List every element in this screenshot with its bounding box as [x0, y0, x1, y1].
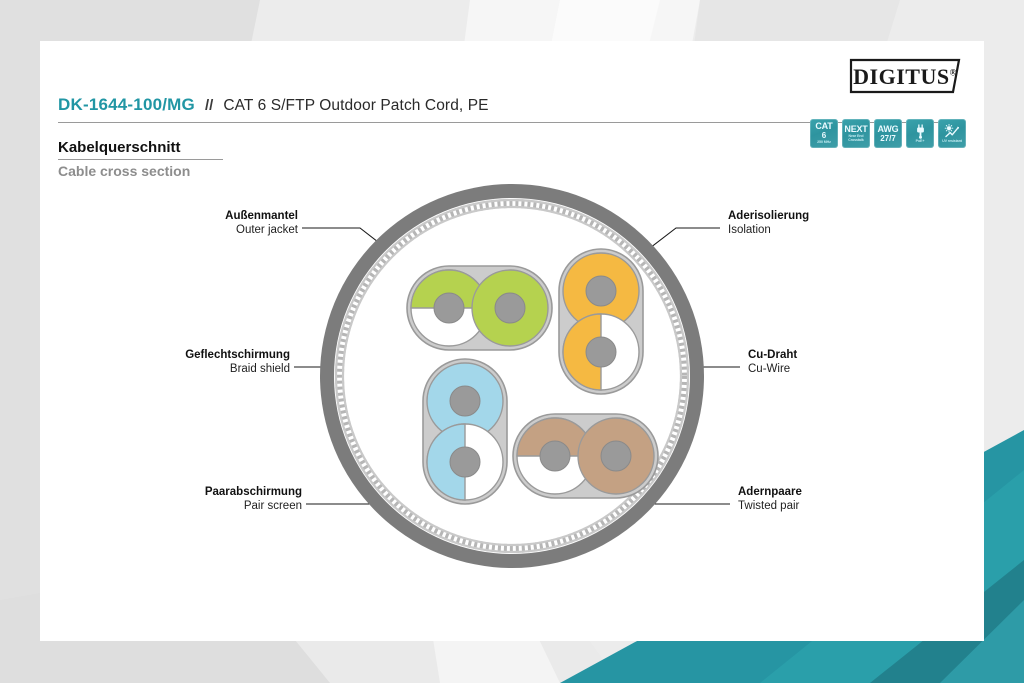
cable-cross-section-diagram: Außenmantel Outer jacket Geflechtschirmu…	[40, 171, 984, 611]
label-cu-wire-en: Cu-Wire	[748, 362, 978, 377]
label-pair-screen-de: Paarabschirmung	[60, 485, 302, 499]
screenshot-root: DIGITUS® DK-1644-100/MG // CAT 6 S/FTP O…	[0, 0, 1024, 683]
awg-badge-main: AWG	[878, 125, 899, 134]
next-badge-main: NEXT	[844, 125, 867, 134]
blue-wire-striped-conductor	[450, 447, 480, 477]
product-name: CAT 6 S/FTP Outdoor Patch Cord, PE	[223, 97, 488, 115]
orange-wire-striped-conductor	[586, 337, 616, 367]
label-braid-shield: Geflechtschirmung Braid shield	[40, 348, 290, 377]
uv-sun-icon	[944, 124, 960, 139]
label-pair-screen-en: Pair screen	[60, 499, 302, 514]
awg-badge[interactable]: AWG 27/7	[874, 119, 902, 148]
poe-badge[interactable]: PoE+	[906, 119, 934, 148]
cat6-badge-mid: 6	[822, 132, 826, 140]
digitus-logo: DIGITUS®	[848, 57, 962, 95]
label-twisted-pair: Adernpaare Twisted pair	[738, 485, 968, 514]
orange-wire-striped	[563, 314, 639, 390]
label-isolation-en: Isolation	[728, 223, 978, 238]
green-wire-solid	[472, 270, 548, 346]
label-braid-shield-en: Braid shield	[40, 362, 290, 377]
label-isolation: Aderisolierung Isolation	[728, 209, 978, 238]
article-number: DK-1644-100/MG	[58, 95, 195, 115]
brown-pair	[513, 414, 658, 498]
feature-badge-strip: CAT 6 250 MHz NEXT Near End Crosstalk AW…	[810, 119, 966, 148]
poe-badge-sub: PoE+	[916, 140, 925, 144]
brown-wire-solid-conductor	[601, 441, 631, 471]
green-pair	[407, 266, 552, 350]
green-wire-striped-conductor	[434, 293, 464, 323]
label-outer-jacket: Außenmantel Outer jacket	[58, 209, 298, 238]
cat6-badge-main: CAT	[815, 122, 832, 131]
logo-registered-mark: ®	[950, 68, 957, 78]
next-badge[interactable]: NEXT Near End Crosstalk	[842, 119, 870, 148]
label-outer-jacket-en: Outer jacket	[58, 223, 298, 238]
orange-pair	[559, 249, 643, 394]
blue-wire-striped	[427, 424, 503, 500]
blue-pair	[423, 359, 507, 504]
label-outer-jacket-de: Außenmantel	[58, 209, 298, 223]
orange-wire-solid-conductor	[586, 276, 616, 306]
cat6-badge-sub: 250 MHz	[817, 141, 831, 145]
brown-wire-striped-conductor	[540, 441, 570, 471]
section-title-de: Kabelquerschnitt	[58, 139, 223, 160]
label-pair-screen: Paarabschirmung Pair screen	[60, 485, 302, 514]
title-separator: //	[205, 97, 213, 114]
brown-wire-solid	[578, 418, 654, 494]
label-twisted-pair-de: Adernpaare	[738, 485, 968, 499]
label-cu-wire: Cu-Draht Cu-Wire	[748, 348, 978, 377]
logo-wordmark: DIGITUS®	[848, 64, 962, 90]
awg-badge-mid: 27/7	[880, 135, 896, 143]
cat6-badge[interactable]: CAT 6 250 MHz	[810, 119, 838, 148]
next-badge-sub2: Crosstalk	[848, 139, 863, 142]
blue-wire-solid-conductor	[450, 386, 480, 416]
label-braid-shield-de: Geflechtschirmung	[40, 348, 290, 362]
label-isolation-de: Aderisolierung	[728, 209, 978, 223]
logo-brand-text: DIGITUS	[853, 64, 949, 89]
power-plug-icon	[915, 124, 926, 139]
label-cu-wire-de: Cu-Draht	[748, 348, 978, 362]
uv-badge[interactable]: UV resistant	[938, 119, 966, 148]
uv-badge-sub: UV resistant	[942, 140, 962, 144]
green-wire-solid-conductor	[495, 293, 525, 323]
document-sheet: DIGITUS® DK-1644-100/MG // CAT 6 S/FTP O…	[40, 41, 984, 641]
label-twisted-pair-en: Twisted pair	[738, 499, 968, 514]
